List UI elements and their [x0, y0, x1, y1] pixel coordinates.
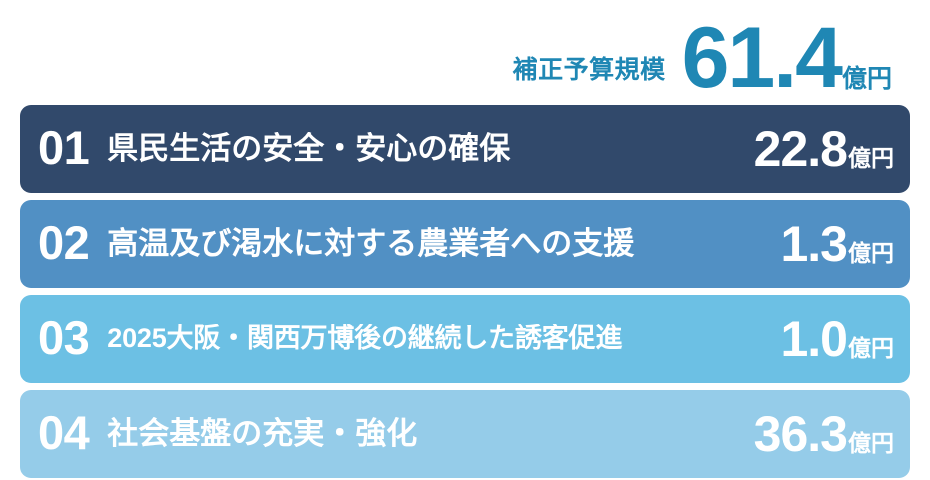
budget-item-unit: 億円 [848, 242, 894, 265]
budget-total-label: 補正予算規模 [513, 58, 666, 98]
budget-item-rank: 04 [38, 409, 89, 459]
budget-item-value: 22.8 [754, 124, 847, 174]
budget-item-row: 03 2025大阪・関西万博後の継続した誘客促進 1.0 億円 [20, 295, 910, 383]
budget-item-amount: 1.3 億円 [780, 219, 894, 269]
budget-item-value: 36.3 [754, 409, 847, 459]
budget-infographic: 補正予算規模 61.4 億円 01 県民生活の安全・安心の確保 22.8 億円 … [0, 0, 930, 480]
budget-item-amount: 1.0 億円 [780, 314, 894, 364]
budget-total-value: 61.4 [682, 19, 841, 98]
budget-item-title: 社会基盤の充実・強化 [107, 417, 745, 451]
budget-item-unit: 億円 [848, 432, 894, 455]
budget-item-rank: 03 [38, 314, 89, 364]
budget-item-unit: 億円 [848, 337, 894, 360]
budget-item-row: 04 社会基盤の充実・強化 36.3 億円 [20, 390, 910, 478]
budget-total-unit: 億円 [842, 67, 892, 94]
budget-item-list: 01 県民生活の安全・安心の確保 22.8 億円 02 高温及び渇水に対する農業… [20, 105, 910, 478]
budget-item-amount: 36.3 億円 [754, 409, 894, 459]
budget-item-unit: 億円 [848, 147, 894, 170]
budget-total-amount: 61.4 億円 [682, 19, 892, 98]
budget-item-value: 1.3 [780, 219, 847, 269]
budget-item-row: 01 県民生活の安全・安心の確保 22.8 億円 [20, 105, 910, 193]
budget-item-title: 高温及び渇水に対する農業者への支援 [107, 227, 772, 261]
budget-item-title: 県民生活の安全・安心の確保 [107, 132, 745, 166]
budget-item-value: 1.0 [780, 314, 847, 364]
budget-item-title: 2025大阪・関西万博後の継続した誘客促進 [107, 324, 772, 354]
budget-item-rank: 01 [38, 124, 89, 174]
budget-item-rank: 02 [38, 219, 89, 269]
budget-item-row: 02 高温及び渇水に対する農業者への支援 1.3 億円 [20, 200, 910, 288]
budget-total-header: 補正予算規模 61.4 億円 [0, 0, 910, 98]
budget-item-amount: 22.8 億円 [754, 124, 894, 174]
